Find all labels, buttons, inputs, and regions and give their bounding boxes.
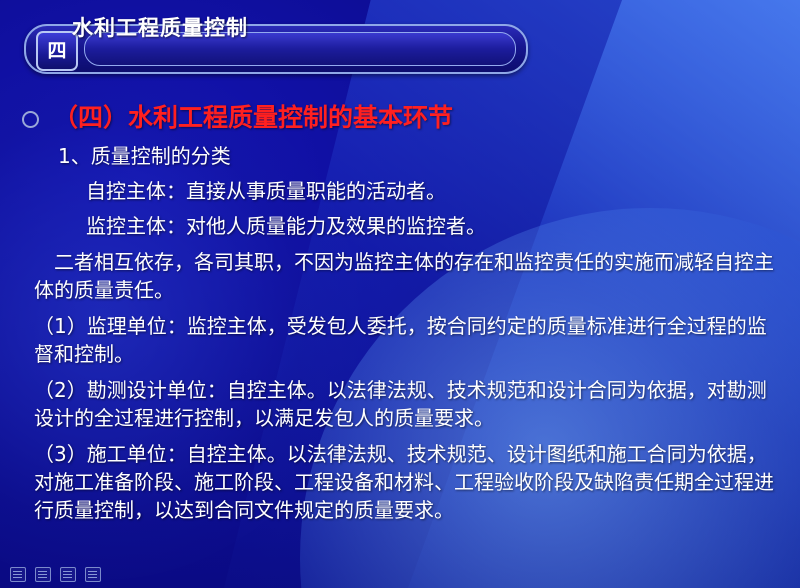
bullet-ring-icon	[22, 111, 39, 128]
spacer	[34, 240, 774, 246]
slide-canvas: 四 水利工程质量控制 （四）水利工程质量控制的基本环节 1、质量控制的分类 自控…	[0, 0, 800, 588]
body-paragraph: 二者相互依存，各司其职，不因为监控主体的存在和监控责任的实施而减轻自控主体的质量…	[34, 248, 774, 304]
body-line: 监控主体：对他人质量能力及效果的监控者。	[86, 212, 774, 241]
body-paragraph: （3）施工单位：自控主体。以法律法规、技术规范、设计图纸和施工合同为依据，对施工…	[34, 440, 774, 524]
section-heading-row: （四）水利工程质量控制的基本环节	[22, 98, 453, 134]
document-icon[interactable]	[60, 567, 76, 582]
slide-title: 水利工程质量控制	[72, 12, 248, 42]
document-icon[interactable]	[10, 567, 26, 582]
slide-body: 1、质量控制的分类 自控主体：直接从事质量职能的活动者。 监控主体：对他人质量能…	[34, 142, 774, 524]
spacer	[34, 304, 774, 310]
body-line: 自控主体：直接从事质量职能的活动者。	[86, 177, 774, 206]
body-paragraph: （2）勘测设计单位：自控主体。以法律法规、技术规范和设计合同为依据，对勘测设计的…	[34, 376, 774, 432]
spacer	[34, 432, 774, 438]
body-line: 1、质量控制的分类	[58, 142, 774, 171]
document-icon[interactable]	[85, 567, 101, 582]
body-paragraph: （1）监理单位：监控主体，受发包人委托，按合同约定的质量标准进行全过程的监督和控…	[34, 312, 774, 368]
spacer	[34, 368, 774, 374]
document-icon[interactable]	[35, 567, 51, 582]
section-heading: （四）水利工程质量控制的基本环节	[53, 98, 453, 134]
bottom-icon-strip	[10, 567, 101, 582]
